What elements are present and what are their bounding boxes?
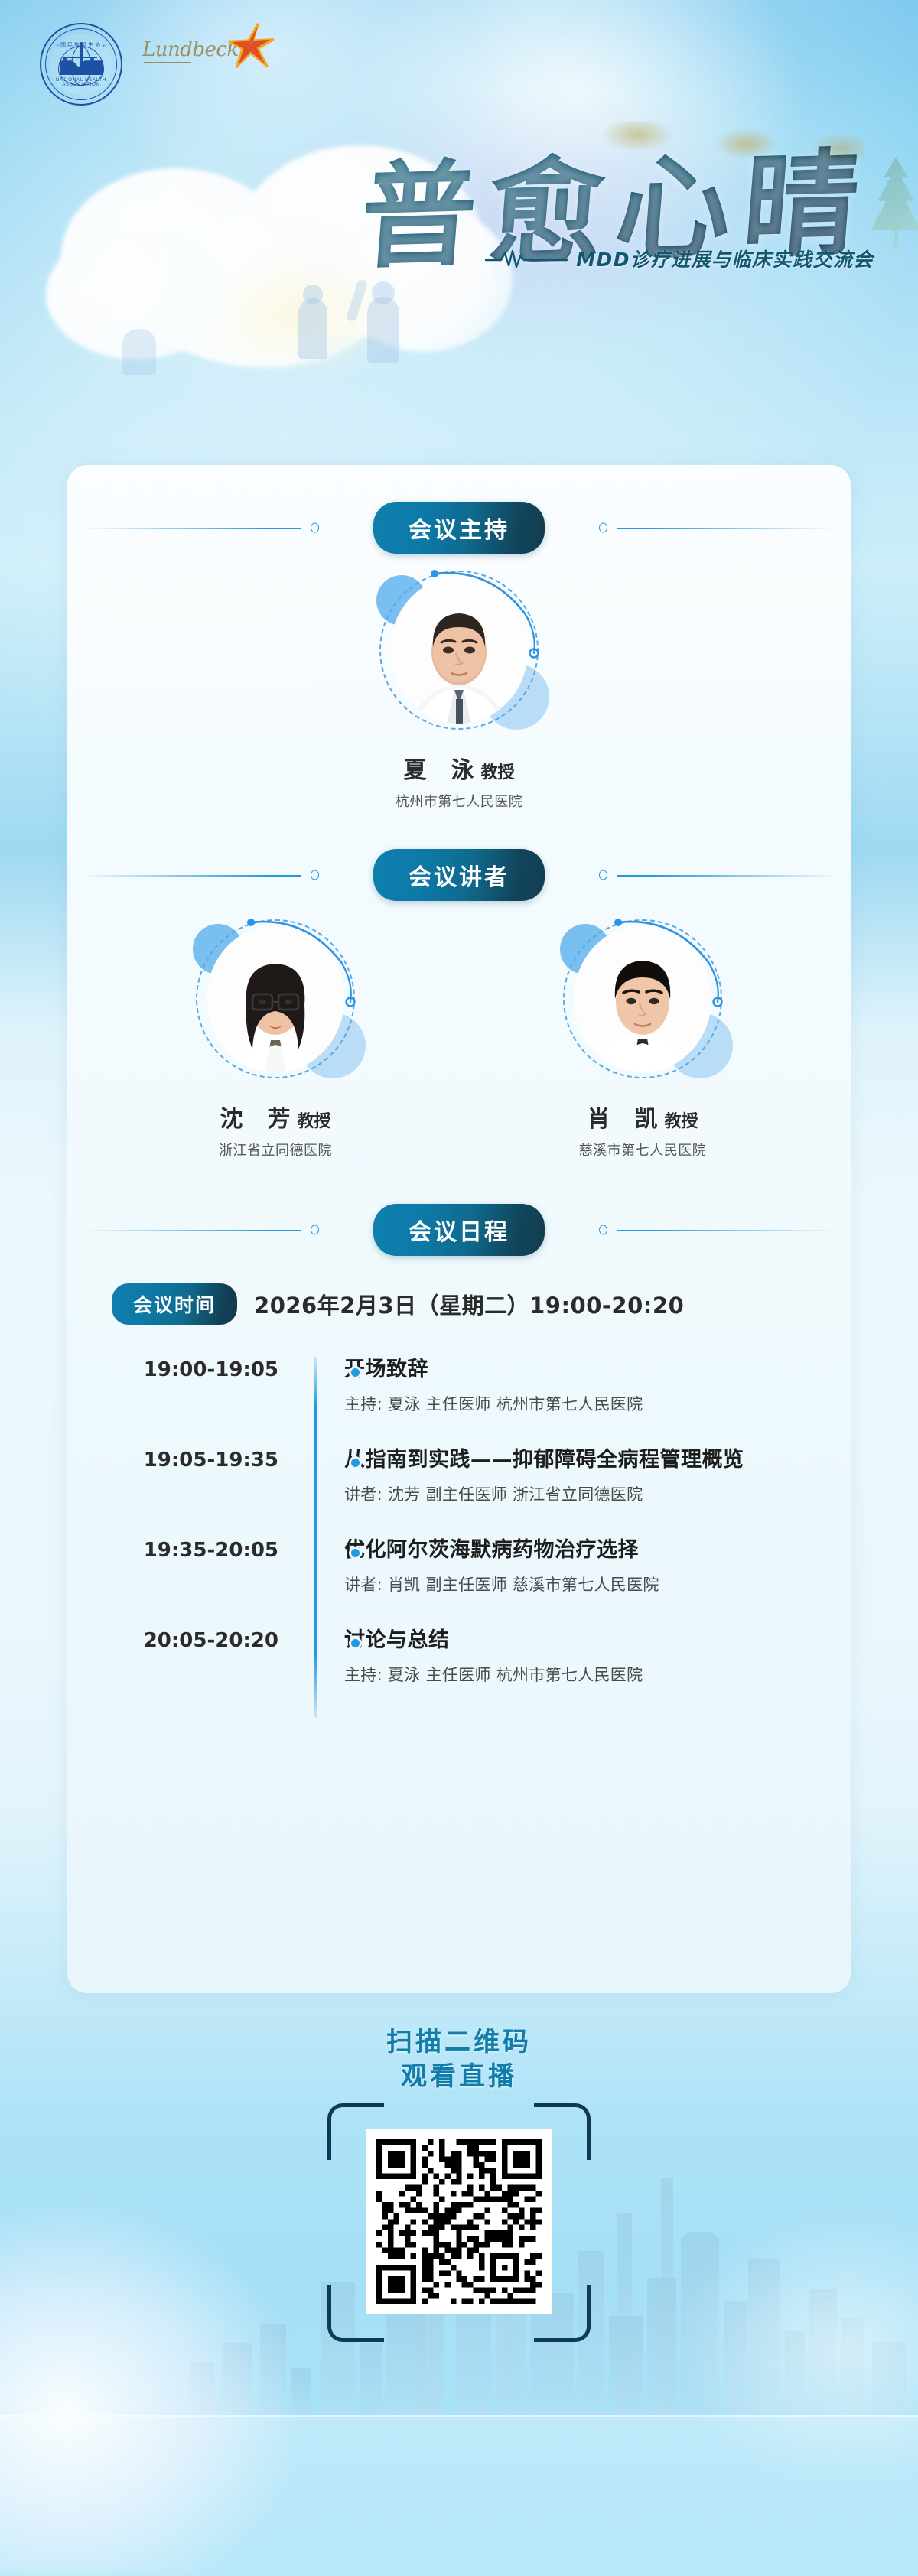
person-name-text: 夏 泳 [403, 757, 474, 784]
person-name: 沈 芳教授 [149, 1100, 402, 1134]
corner-bracket-tr-icon [534, 2103, 591, 2160]
qr-frame [327, 2103, 591, 2342]
avatar [562, 918, 724, 1080]
agenda-list: 19:00-19:05 开场致辞 主持: 夏泳 主任医师 杭州市第七人民医院 1… [67, 1357, 851, 1718]
avatar-decorative-arc [558, 906, 742, 1089]
agenda-time: 20:05-20:20 [107, 1628, 301, 1718]
section-title-host: 会议主持 [373, 502, 545, 554]
corner-bracket-br-icon [534, 2285, 591, 2342]
agenda-row: 19:00-19:05 开场致辞 主持: 夏泳 主任医师 杭州市第七人民医院 [107, 1357, 820, 1447]
agenda-title: 从指南到实践——抑郁障碍全病程管理概览 [344, 1447, 744, 1473]
starfish-icon [226, 21, 277, 72]
person-org: 浙江省立同德医院 [149, 1140, 402, 1160]
section-header-host: 会议主持 [67, 497, 851, 558]
qr-title-line2: 观看直播 [0, 2060, 918, 2094]
avatar-decorative-arc [191, 906, 375, 1089]
agenda-detail: 讲者: 沈芳 副主任医师 浙江省立同德医院 [344, 1482, 744, 1505]
avatar [378, 569, 540, 731]
person-name: 肖 凯教授 [516, 1100, 769, 1134]
person-org: 杭州市第七人民医院 [333, 791, 585, 811]
meeting-time-row: 会议时间 2026年2月3日（星期二）19:00-20:20 [67, 1283, 851, 1325]
person-name-text: 肖 凯 [587, 1106, 658, 1133]
agenda-detail: 主持: 夏泳 主任医师 杭州市第七人民医院 [344, 1663, 643, 1686]
agenda-bullet-icon [349, 1547, 362, 1560]
section-header-speakers: 会议讲者 [67, 844, 851, 906]
cnha-logo: 中国民族卫生协会 CNHA NATIONAL HEALTH ASSOCIATIO… [40, 23, 122, 106]
page-subtitle: MDD诊疗进展与临床实践交流会 [576, 245, 874, 272]
agenda-row: 20:05-20:20 讨论与总结 主持: 夏泳 主任医师 杭州市第七人民医院 [107, 1628, 820, 1718]
host-card: 夏 泳教授 杭州市第七人民医院 [333, 569, 585, 811]
host-list: 夏 泳教授 杭州市第七人民医院 [67, 569, 851, 811]
qr-section: 扫描二维码 观看直播 [0, 2025, 918, 2342]
cnha-logo-abbrev: CNHA [50, 67, 112, 75]
person-title-text: 教授 [480, 763, 514, 782]
meeting-time-value: 2026年2月3日（星期二）19:00-20:20 [254, 1288, 684, 1320]
person-org: 慈溪市第七人民医院 [516, 1140, 769, 1160]
lundbeck-wordmark: Lundbeck [142, 40, 223, 60]
agenda-title: 开场致辞 [344, 1357, 643, 1383]
corner-bracket-tl-icon [327, 2103, 384, 2160]
lundbeck-logo: Lundbeck [142, 40, 223, 76]
agenda-row: 19:05-19:35 从指南到实践——抑郁障碍全病程管理概览 讲者: 沈芳 副… [107, 1447, 820, 1537]
section-title-agenda: 会议日程 [373, 1204, 545, 1256]
agenda-title: 讨论与总结 [344, 1628, 643, 1654]
speaker-list: 沈 芳教授 浙江省立同德医院 [67, 918, 851, 1160]
agenda-row: 19:35-20:05 优化阿尔茨海默病药物治疗选择 讲者: 肖凯 副主任医师 … [107, 1537, 820, 1628]
speaker-card: 肖 凯教授 慈溪市第七人民医院 [516, 918, 769, 1160]
agenda-time: 19:05-19:35 [107, 1447, 301, 1537]
person-title-text: 教授 [664, 1112, 698, 1131]
corner-bracket-bl-icon [327, 2285, 384, 2342]
section-title-speakers: 会议讲者 [373, 849, 545, 901]
agenda-time: 19:35-20:05 [107, 1537, 301, 1628]
agenda-time: 19:00-19:05 [107, 1357, 301, 1447]
heartbeat-line-icon [484, 249, 568, 268]
person-name-text: 沈 芳 [220, 1106, 291, 1133]
agenda-bullet-icon [349, 1456, 362, 1469]
header-logos: 中国民族卫生协会 CNHA NATIONAL HEALTH ASSOCIATIO… [0, 0, 918, 115]
content-card: 会议主持 [67, 465, 851, 1993]
avatar-decorative-arc [375, 557, 558, 740]
section-header-agenda: 会议日程 [67, 1199, 851, 1260]
meeting-time-badge: 会议时间 [112, 1283, 237, 1325]
agenda-bullet-icon [349, 1366, 362, 1379]
person-name: 夏 泳教授 [333, 751, 585, 785]
qr-code-icon[interactable] [366, 2129, 552, 2314]
agenda-detail: 主持: 夏泳 主任医师 杭州市第七人民医院 [344, 1392, 643, 1415]
speaker-card: 沈 芳教授 浙江省立同德医院 [149, 918, 402, 1160]
qr-title-line1: 扫描二维码 [0, 2025, 918, 2060]
cnha-logo-english: NATIONAL HEALTH ASSOCIATION [50, 78, 112, 87]
agenda-detail: 讲者: 肖凯 副主任医师 慈溪市第七人民医院 [344, 1573, 659, 1595]
agenda-bullet-icon [349, 1637, 362, 1650]
agenda-title: 优化阿尔茨海默病药物治疗选择 [344, 1537, 659, 1563]
poster-title-block: 普愈心晴 MDD诊疗进展与临床实践交流会 [0, 122, 918, 352]
avatar [194, 918, 356, 1080]
person-title-text: 教授 [297, 1112, 330, 1131]
